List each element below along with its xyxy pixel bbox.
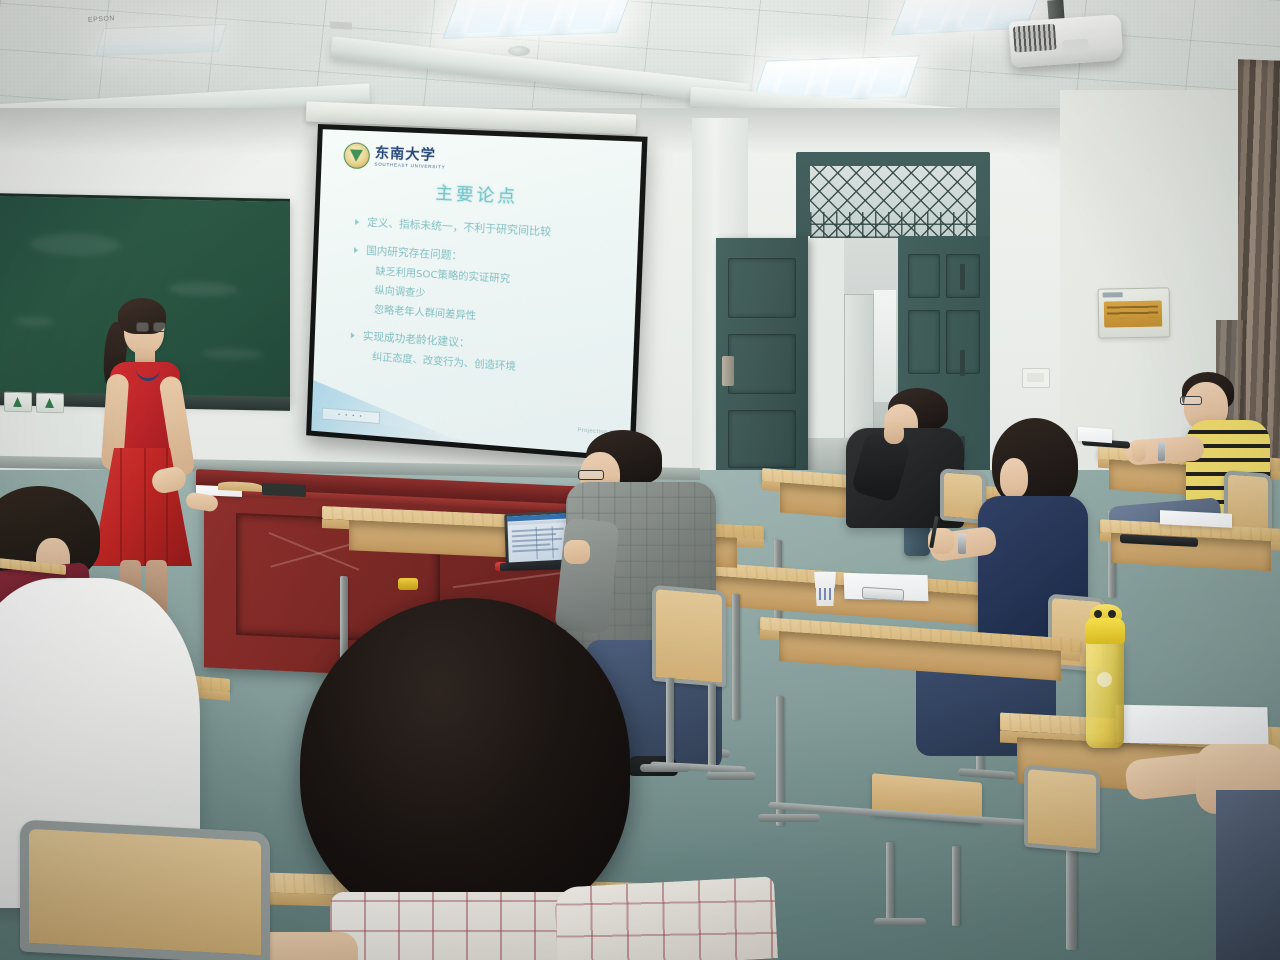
- ceiling-light-panel: [95, 24, 226, 56]
- student-desk: [1100, 519, 1280, 587]
- electrical-panel-label-icon: [1103, 292, 1123, 297]
- attendee-hand: [1132, 440, 1146, 462]
- chalk-box[interactable]: [4, 392, 32, 413]
- yellow-water-bottle[interactable]: [1086, 638, 1124, 748]
- classroom-chair[interactable]: [652, 585, 726, 687]
- attendee-hand: [884, 422, 904, 444]
- projector-lens-icon: [1062, 38, 1089, 54]
- attendee-head: [1000, 458, 1028, 498]
- presentation-slide: 东南大学 SOUTHEAST UNIVERSITY 主要论点 定义、指标未统一，…: [311, 129, 642, 456]
- chalk-box[interactable]: [36, 393, 64, 414]
- lattice-grid-icon: [810, 212, 976, 238]
- tablet-screen: [507, 513, 569, 562]
- wristwatch-icon: [1158, 441, 1165, 461]
- door-handle[interactable]: [722, 356, 734, 386]
- smoke-detector-icon: [508, 46, 530, 56]
- university-logo: 东南大学 SOUTHEAST UNIVERSITY: [343, 142, 446, 173]
- projector: [1009, 14, 1124, 68]
- glasses-icon: [578, 470, 604, 480]
- university-name-cn: 东南大学: [375, 146, 446, 163]
- attendee-body-right-foreground: [1216, 790, 1280, 960]
- glasses-icon: [136, 322, 166, 332]
- door-transom-window: [810, 166, 976, 238]
- projector-vent-icon: [1013, 24, 1057, 53]
- electrical-panel[interactable]: [1098, 287, 1171, 338]
- electrical-panel-window: [1104, 301, 1162, 328]
- slide-body: 定义、指标未统一，不利于研究间比较 国内研究存在问题： 缺乏利用SOC策略的实证…: [350, 213, 622, 384]
- attendee-hair: [300, 598, 630, 930]
- classroom-chair[interactable]: [1024, 765, 1100, 854]
- attendee-plaid-shoulder: [554, 876, 778, 960]
- attendee-hand: [564, 540, 590, 564]
- classroom-scene: EPSON: [0, 0, 1280, 960]
- university-name-en: SOUTHEAST UNIVERSITY: [374, 162, 445, 170]
- paper-stack[interactable]: [1078, 427, 1112, 443]
- projection-screen-frame: 东南大学 SOUTHEAST UNIVERSITY 主要论点 定义、指标未统一，…: [306, 124, 647, 462]
- bottle-cap: [1085, 618, 1125, 644]
- lectern-label-plate: [330, 22, 352, 30]
- chair-back-behind-lectern: [218, 481, 262, 492]
- bottle-pattern-icon: [1097, 672, 1112, 687]
- classroom-chair[interactable]: [20, 819, 270, 960]
- wristwatch-icon: [958, 534, 966, 554]
- paper-stack[interactable]: [1115, 705, 1268, 746]
- slide-decoration: [311, 369, 465, 443]
- wall-outlet[interactable]: [1022, 368, 1050, 388]
- white-smartphone[interactable]: [862, 587, 904, 602]
- hallway-window: [874, 290, 896, 402]
- glasses-icon: [1180, 396, 1202, 405]
- slide-title: 主要论点: [320, 173, 640, 214]
- lectern-item[interactable]: [262, 483, 306, 497]
- ceiling-light-panel: [442, 0, 633, 39]
- desk-small-object[interactable]: [398, 578, 418, 590]
- hallway-panel: [844, 294, 874, 446]
- university-emblem-icon: [343, 142, 370, 169]
